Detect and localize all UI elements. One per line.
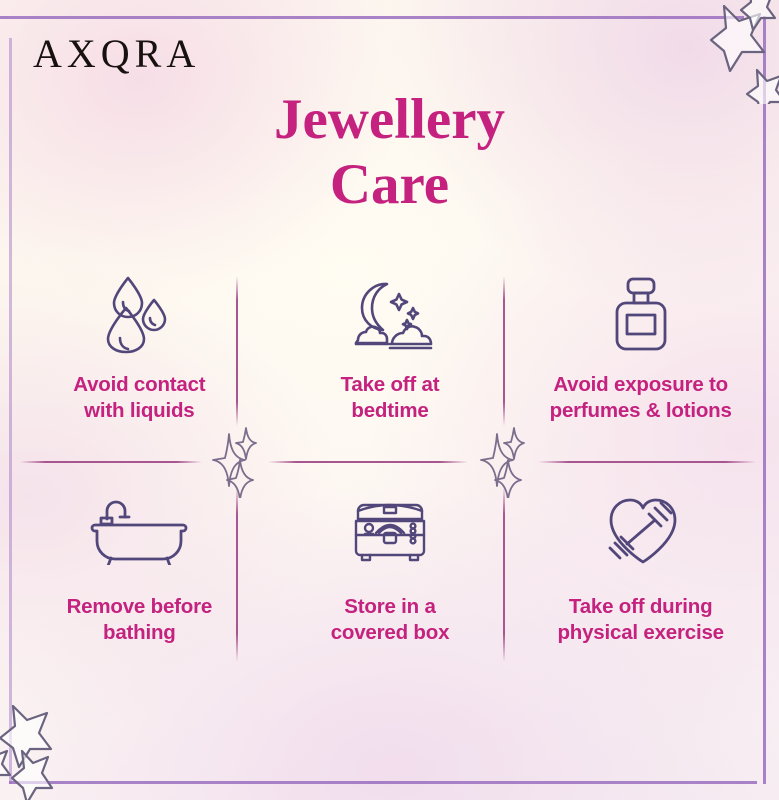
page-title-line2: Care — [0, 157, 779, 213]
care-tip-avoid-perfume: Avoid exposure to perfumes & lotions — [515, 262, 766, 478]
care-tip-store-box: Store in a covered box — [265, 478, 516, 694]
water-droplets-icon — [102, 276, 176, 356]
moon-stars-clouds-icon — [344, 276, 436, 356]
caption-line1: Take off during — [569, 595, 713, 618]
care-tip-caption: Avoid exposure to perfumes & lotions — [550, 372, 732, 424]
care-tips-grid: Avoid contact with liquids — [14, 262, 766, 694]
caption-line1: Remove before — [67, 595, 213, 618]
care-tip-bedtime: Take off at bedtime — [265, 262, 516, 478]
page-title: Jewellery Care — [0, 92, 779, 213]
jewellery-care-poster: AXQRA Jewellery Care — [0, 0, 779, 800]
caption-line2: with liquids — [84, 399, 194, 422]
jewellery-box-icon — [346, 492, 434, 568]
heart-dumbbell-icon — [597, 492, 685, 568]
care-tip-caption: Take off at bedtime — [341, 372, 440, 424]
care-tip-avoid-liquids: Avoid contact with liquids — [14, 262, 265, 478]
care-tip-caption: Avoid contact with liquids — [73, 372, 205, 424]
five-point-stars-icon — [0, 704, 94, 800]
care-tip-remove-bathing: Remove before bathing — [14, 478, 265, 694]
caption-line2: covered box — [331, 621, 450, 644]
caption-line1: Avoid contact — [73, 373, 205, 396]
frame-line-top — [0, 16, 744, 19]
brand-wordmark: AXQRA — [33, 34, 200, 74]
caption-line1: Take off at — [341, 373, 440, 396]
care-tip-caption: Take off during physical exercise — [557, 594, 723, 646]
bathtub-icon — [87, 492, 191, 568]
care-tip-physical-exercise: Take off during physical exercise — [515, 478, 766, 694]
care-tip-caption: Store in a covered box — [331, 594, 450, 646]
caption-line2: bedtime — [351, 399, 428, 422]
caption-line1: Avoid exposure to — [553, 373, 728, 396]
brand-logo: AXQRA — [33, 34, 200, 74]
caption-line2: bathing — [103, 621, 176, 644]
caption-line2: perfumes & lotions — [550, 399, 732, 422]
caption-line1: Store in a — [344, 595, 435, 618]
page-title-line1: Jewellery — [274, 88, 505, 151]
care-tip-caption: Remove before bathing — [67, 594, 213, 646]
caption-line2: physical exercise — [557, 621, 723, 644]
perfume-bottle-icon — [609, 276, 673, 356]
frame-line-bottom — [9, 781, 757, 784]
